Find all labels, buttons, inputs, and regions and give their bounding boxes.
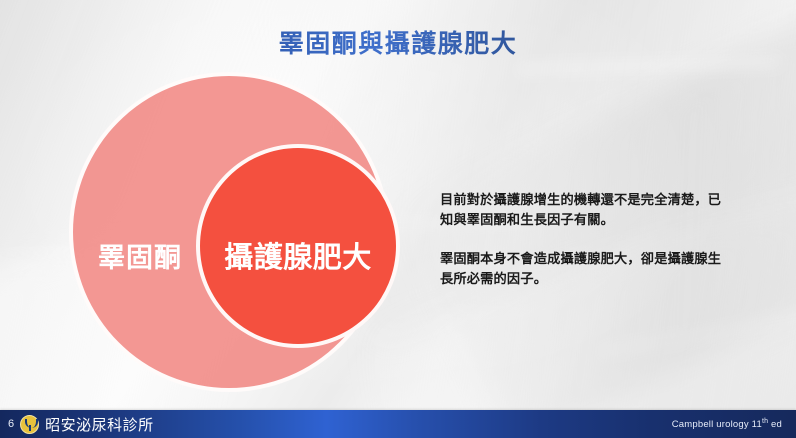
body-text-block: 目前對於攝護腺增生的機轉還不是完全清楚，已知與睪固酮和生長因子有關。 睪固酮本身… xyxy=(440,190,730,290)
page-number: 6 xyxy=(8,418,14,430)
clinic-emblem-icon xyxy=(20,415,39,434)
source-citation: Campbell urology 11th ed xyxy=(672,418,796,430)
source-citation-suffix: ed xyxy=(768,419,782,430)
body-paragraph-1: 目前對於攝護腺增生的機轉還不是完全清楚，已知與睪固酮和生長因子有關。 xyxy=(440,190,730,231)
footer-left-group: 6 昭安泌尿科診所 xyxy=(0,414,154,435)
venn-label-outer: 睪固酮 xyxy=(85,236,195,275)
source-citation-prefix: Campbell urology 11 xyxy=(672,419,762,430)
clinic-name: 昭安泌尿科診所 xyxy=(45,414,154,435)
body-paragraph-2: 睪固酮本身不會造成攝護腺肥大，卻是攝護腺生長所必需的因子。 xyxy=(440,249,730,290)
venn-label-inner: 攝護腺肥大 xyxy=(200,234,396,276)
slide-canvas: 睪固酮與攝護腺肥大 睪固酮 攝護腺肥大 目前對於攝護腺增生的機轉還不是完全清楚，… xyxy=(0,0,796,438)
slide-footer-bar: 6 昭安泌尿科診所 Campbell urology 11th ed xyxy=(0,410,796,438)
